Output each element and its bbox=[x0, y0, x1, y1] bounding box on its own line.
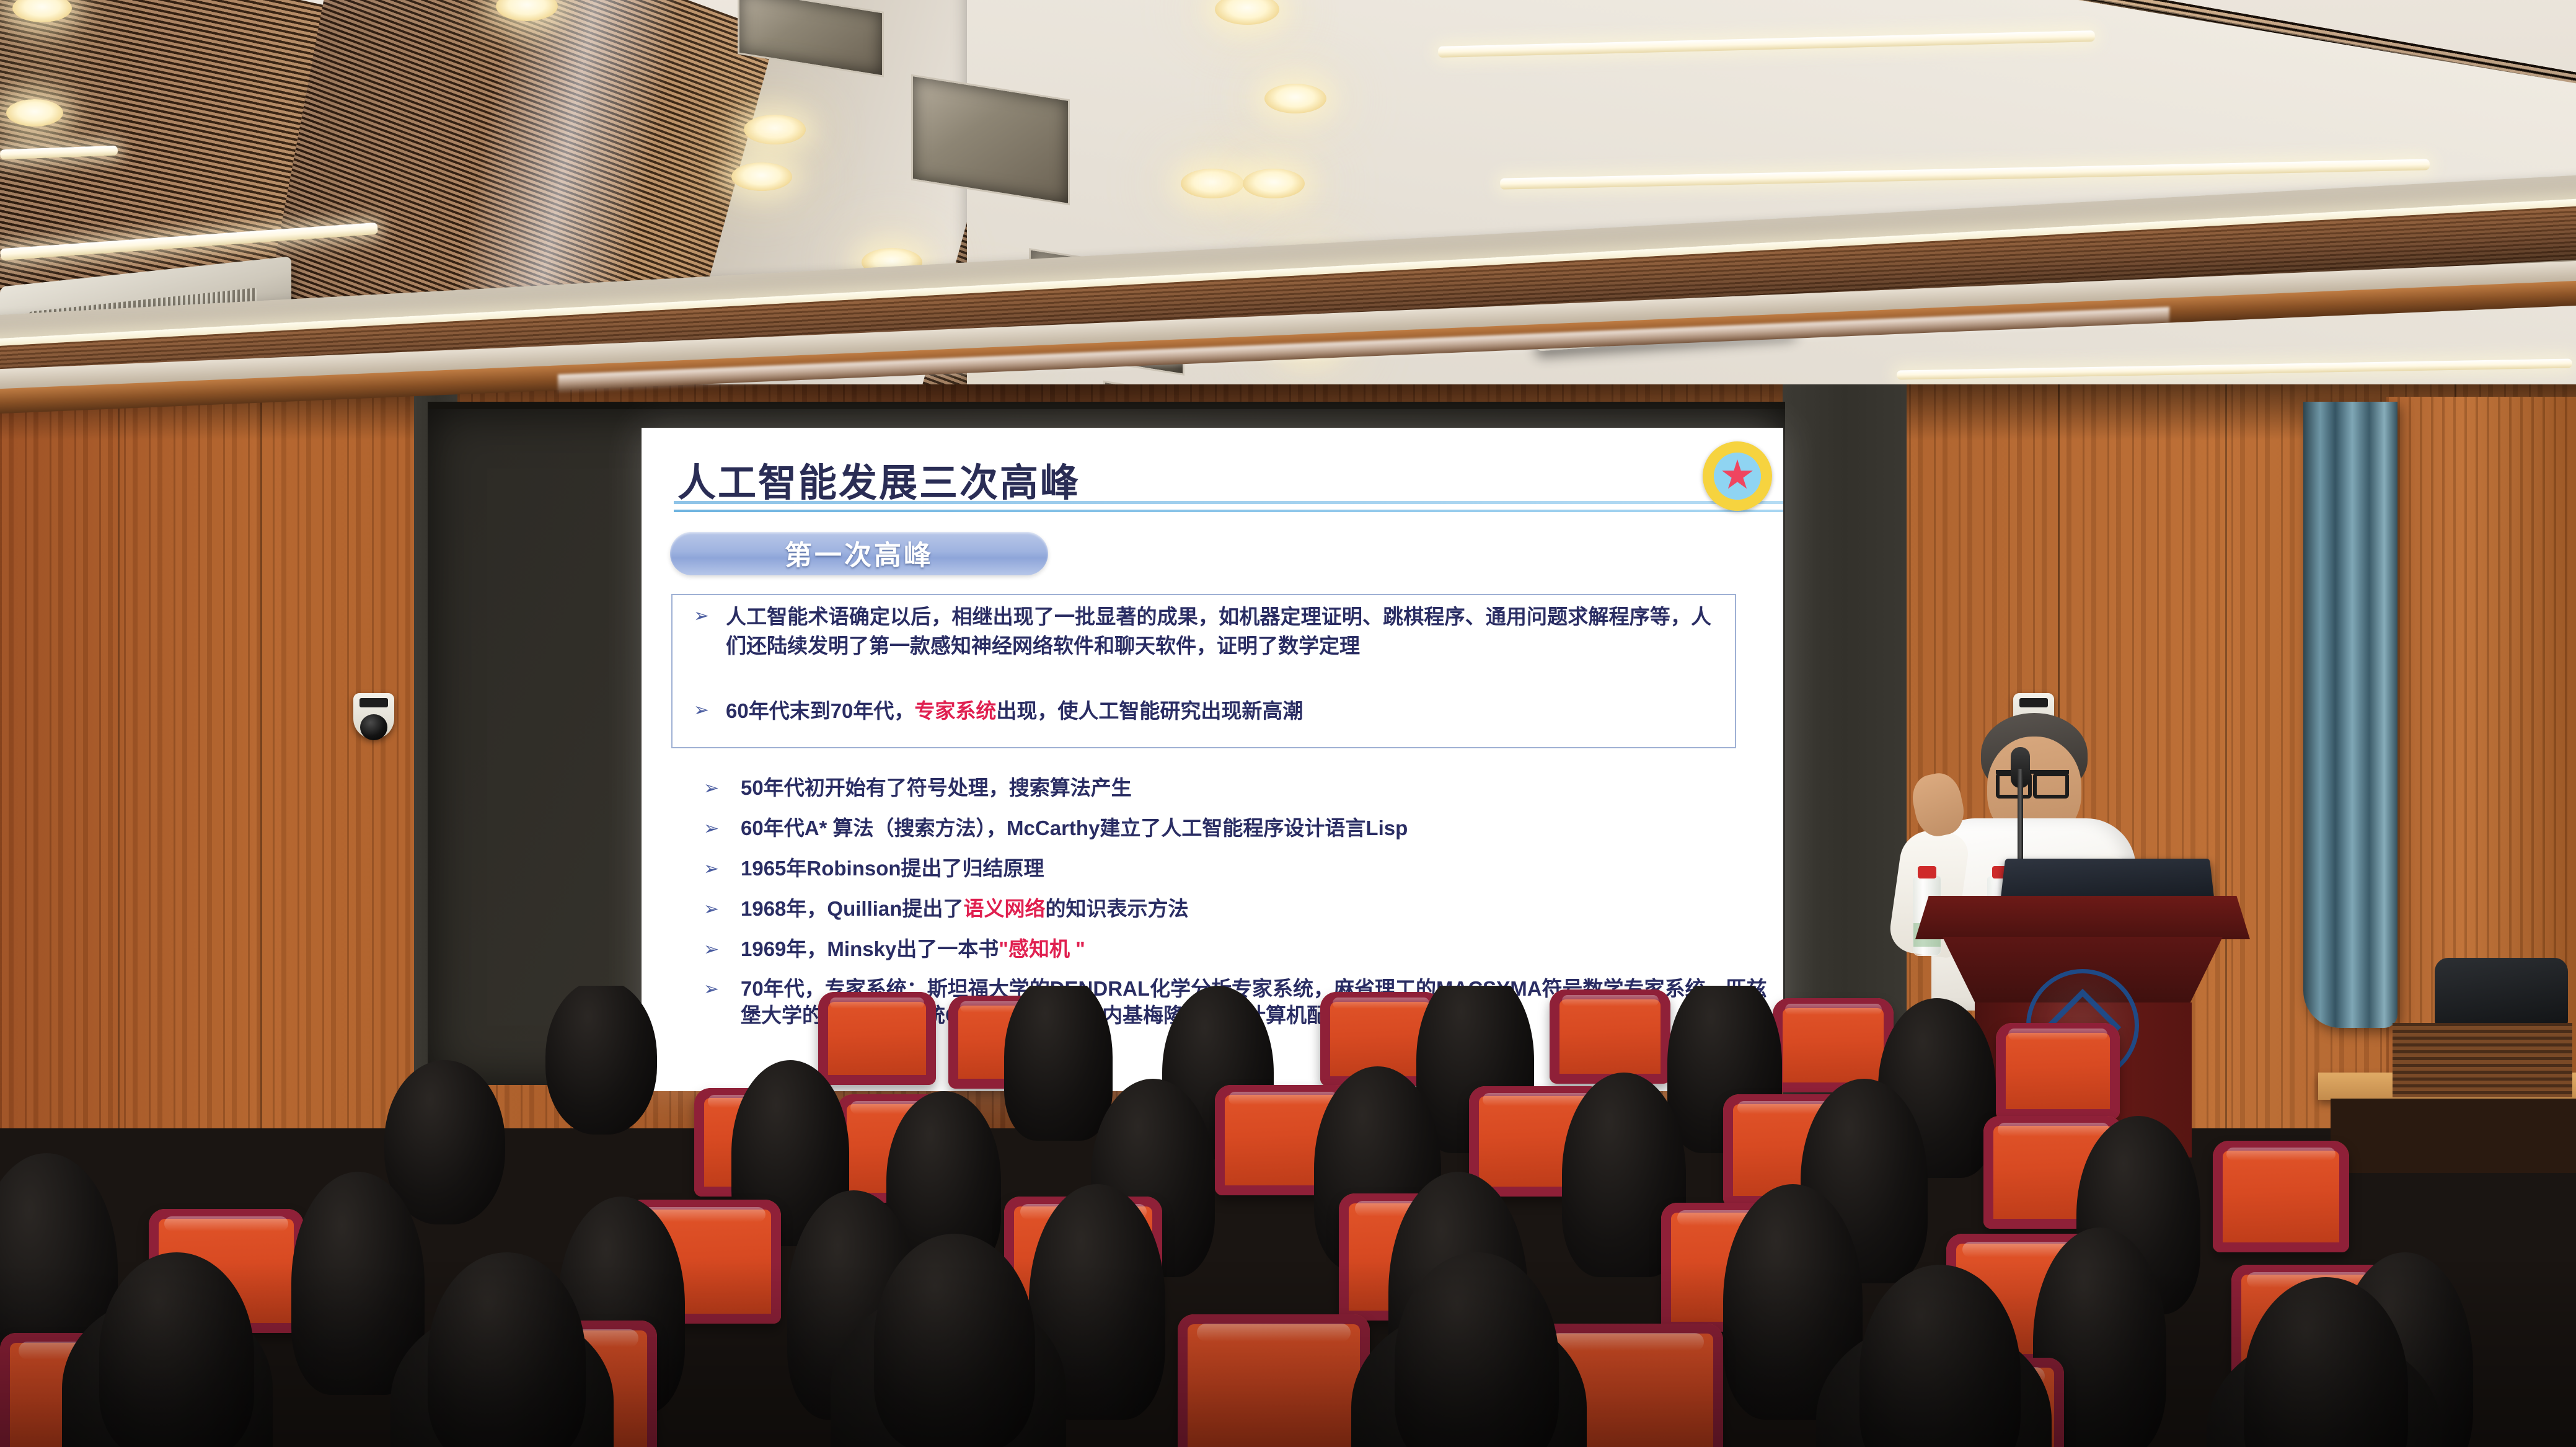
highlighted-text: 语义网络 bbox=[963, 897, 1045, 920]
bullet-marker-icon: ➢ bbox=[694, 699, 709, 721]
camera-ir-slot bbox=[359, 698, 388, 707]
podium-desktop bbox=[1915, 896, 2250, 939]
seat[interactable] bbox=[1550, 989, 1670, 1084]
body-text: 1968年，Quillian提出了 bbox=[741, 897, 963, 920]
slide-bullet-item: ➢50年代初开始有了符号处理，搜索算法产生 bbox=[701, 775, 1780, 802]
side-curtain bbox=[2303, 402, 2397, 1028]
title-rule-2 bbox=[674, 510, 1783, 512]
slide-callout-box: ➢人工智能术语确定以后，相继出现了一批显著的成果，如机器定理证明、跳棋程序、通用… bbox=[671, 594, 1736, 748]
audience-head bbox=[874, 1234, 1035, 1447]
body-text: 50年代初开始有了符号处理，搜索算法产生 bbox=[741, 776, 1132, 799]
ceiling-downlight bbox=[1264, 84, 1326, 113]
audience-head bbox=[1004, 986, 1113, 1141]
bullet-marker-icon: ➢ bbox=[694, 605, 709, 627]
section-banner-label: 第一次高峰 bbox=[670, 533, 1048, 573]
bullet-marker-icon: ➢ bbox=[704, 897, 719, 921]
body-text: 的知识表示方法 bbox=[1045, 897, 1188, 920]
body-text: 1969年，Minsky出了一本书 bbox=[741, 937, 999, 960]
slide-bullet-item: ➢1969年，Minsky出了一本书"感知机 " bbox=[701, 936, 1780, 963]
seat[interactable] bbox=[1773, 998, 1894, 1092]
dome-security-camera bbox=[353, 693, 394, 739]
body-text: 60年代末到70年代， bbox=[726, 699, 914, 722]
ceiling-downlight bbox=[1181, 169, 1244, 198]
callout-paragraph: 60年代末到70年代，专家系统出现，使人工智能研究出现新高潮 bbox=[726, 697, 1711, 726]
seat[interactable] bbox=[2213, 1141, 2349, 1252]
ceiling-downlight bbox=[731, 162, 792, 191]
seat[interactable] bbox=[1996, 1023, 2120, 1119]
body-text: 1965年Robinson提出了归结原理 bbox=[741, 857, 1044, 880]
body-text: 出现，使人工智能研究出现新高潮 bbox=[996, 699, 1303, 722]
slide-bullet-item: ➢1965年Robinson提出了归结原理 bbox=[701, 856, 1780, 882]
bullet-marker-icon: ➢ bbox=[704, 937, 719, 962]
callout-paragraph: 人工智能术语确定以后，相继出现了一批显著的成果，如机器定理证明、跳棋程序、通用问… bbox=[726, 603, 1711, 661]
seat[interactable] bbox=[1178, 1314, 1370, 1447]
body-text: 人工智能术语确定以后，相继出现了一批显著的成果，如机器定理证明、跳棋程序、通用问… bbox=[726, 605, 1711, 657]
section-banner: 第一次高峰 bbox=[670, 532, 1048, 575]
highlighted-text: 专家系统 bbox=[914, 699, 996, 722]
audience-seating bbox=[0, 986, 2576, 1447]
presenter-glasses bbox=[1996, 770, 2069, 791]
ceiling-downlight bbox=[1243, 169, 1305, 198]
slide-bullet-item: ➢60年代A* 算法（搜索方法），McCarthy建立了人工智能程序设计语言Li… bbox=[701, 815, 1780, 842]
bullet-marker-icon: ➢ bbox=[704, 776, 719, 800]
bottle-cap bbox=[1918, 866, 1936, 878]
seat[interactable] bbox=[818, 992, 936, 1085]
university-emblem-icon bbox=[1703, 441, 1772, 511]
camera-lens bbox=[360, 714, 387, 740]
audience-head bbox=[99, 1252, 254, 1447]
slide-title: 人工智能发展三次高峰 bbox=[677, 451, 1080, 507]
camera-ir-slot bbox=[2019, 698, 2048, 707]
title-rule-1 bbox=[674, 501, 1783, 504]
bullet-marker-icon: ➢ bbox=[704, 857, 719, 881]
lecture-hall-photo: 人工智能发展三次高峰 第一次高峰 ➢人工智能术语确定以后，相继出现了一批显著的成… bbox=[0, 0, 2576, 1447]
slide-bullet-item: ➢1968年，Quillian提出了语义网络的知识表示方法 bbox=[701, 896, 1780, 923]
ceiling-downlight bbox=[744, 115, 806, 144]
ceiling-downlight bbox=[6, 99, 63, 126]
audience-head bbox=[545, 986, 657, 1135]
highlighted-text: "感知机 " bbox=[999, 937, 1085, 960]
bullet-marker-icon: ➢ bbox=[704, 816, 719, 841]
body-text: 60年代A* 算法（搜索方法），McCarthy建立了人工智能程序设计语言Lis… bbox=[741, 816, 1408, 839]
